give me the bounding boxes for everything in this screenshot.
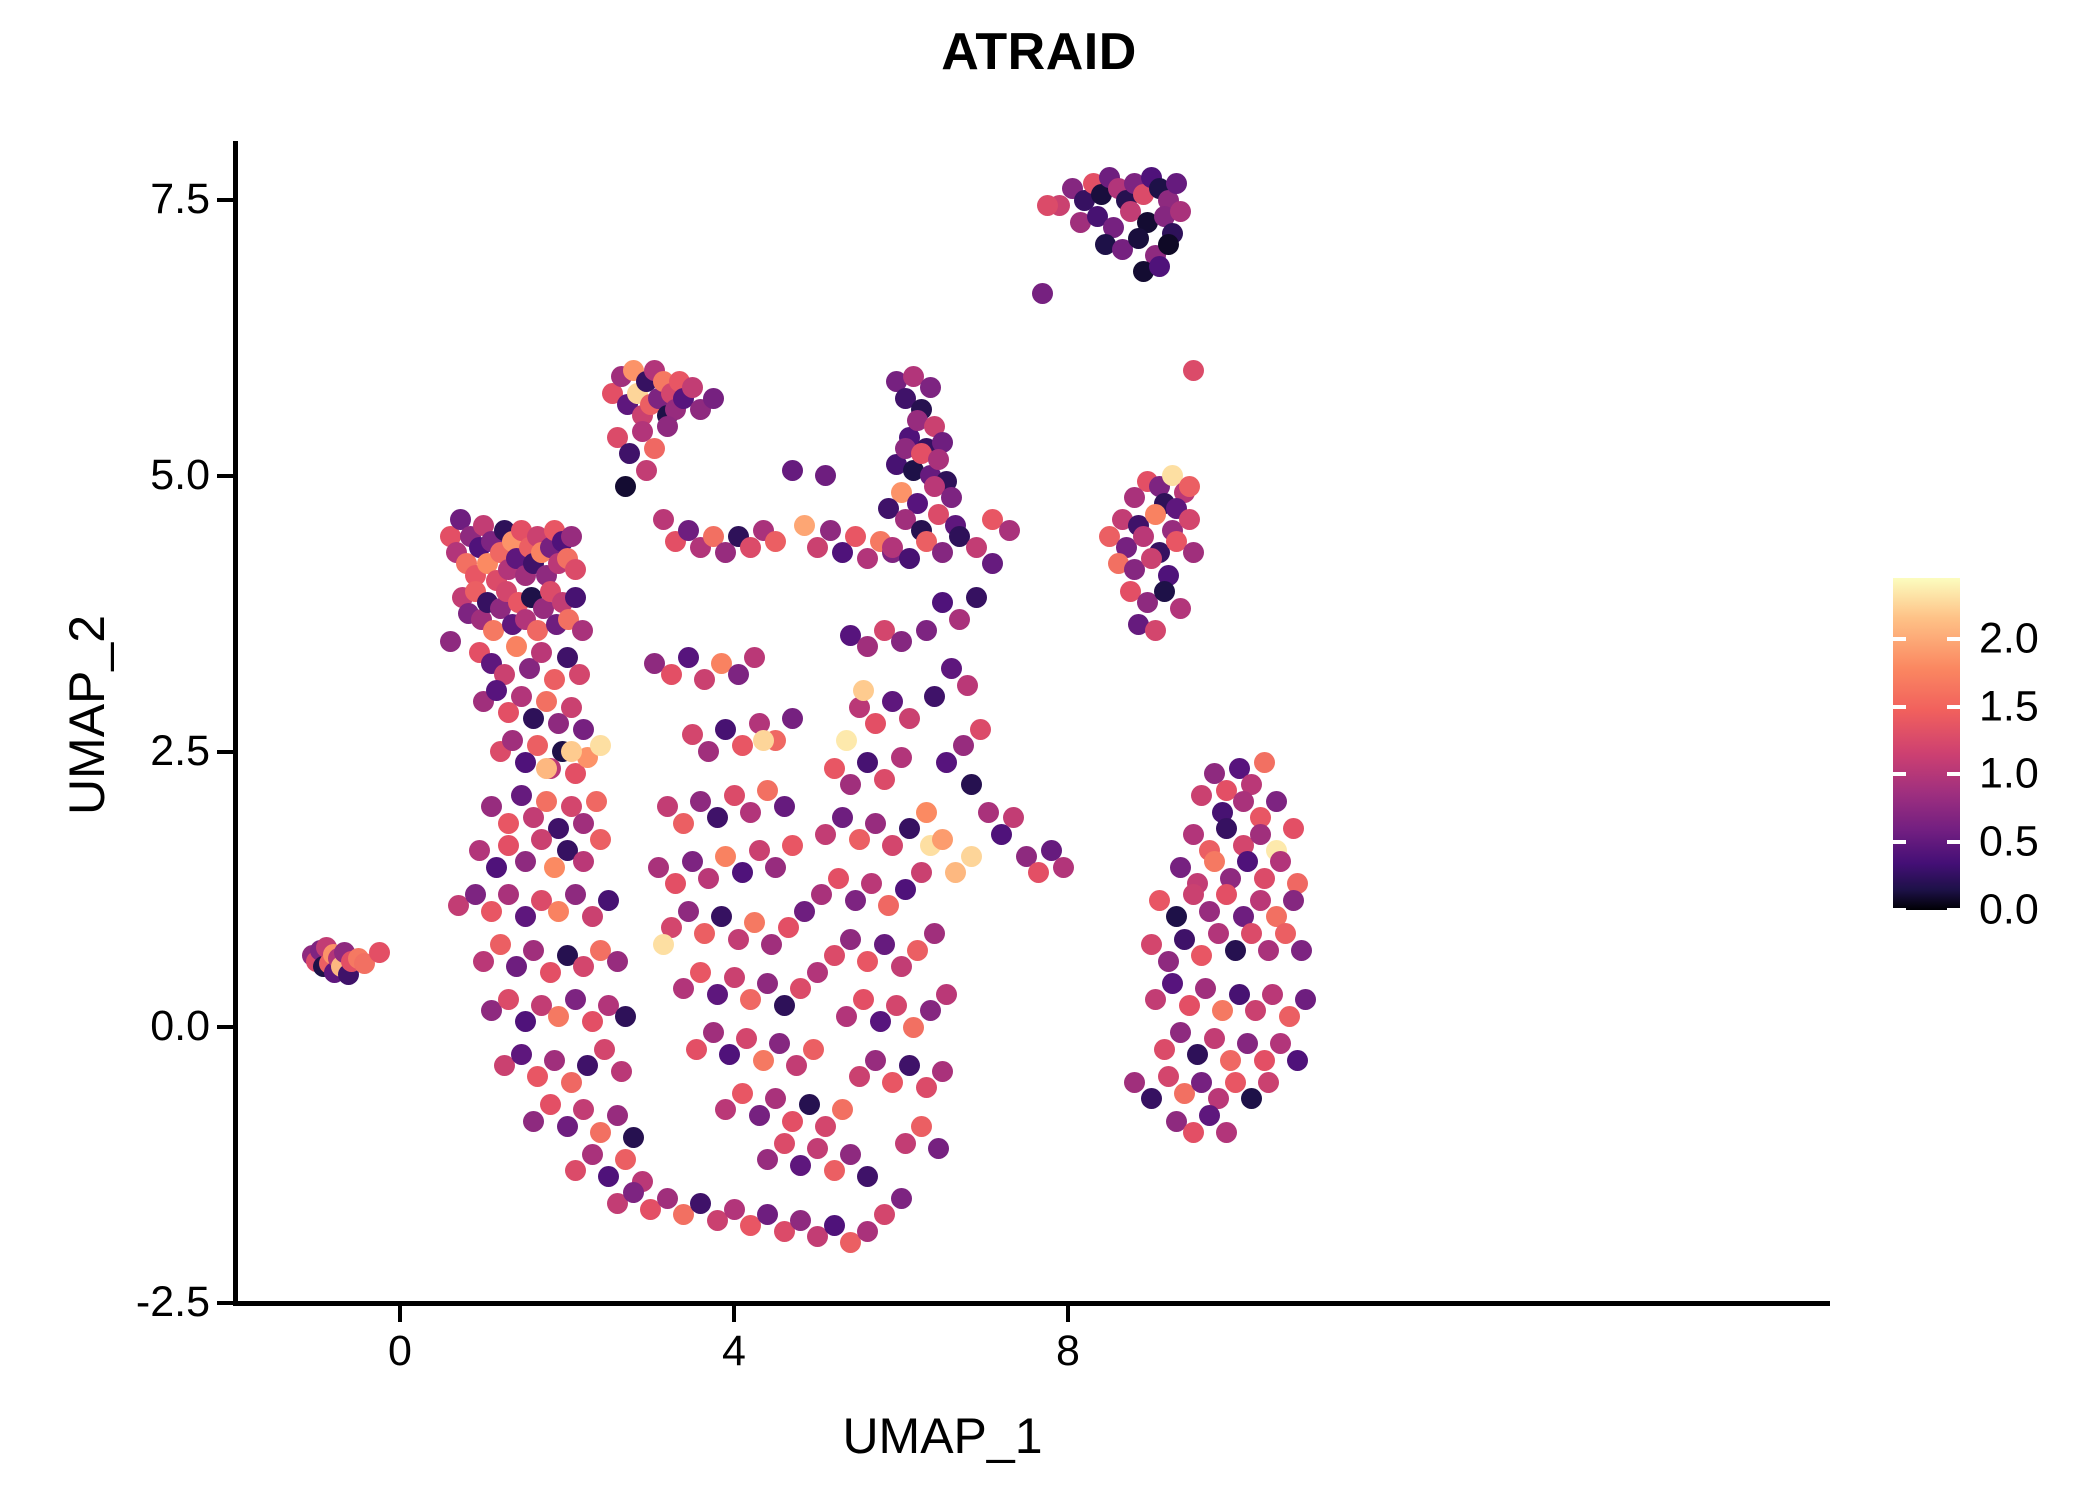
data-point (694, 669, 715, 690)
data-point (1133, 526, 1154, 547)
data-point (1158, 234, 1179, 255)
data-point (690, 1193, 711, 1214)
data-point (1258, 1072, 1279, 1093)
data-point (1225, 1072, 1246, 1093)
data-point (1145, 620, 1166, 641)
data-point (598, 890, 619, 911)
data-point (590, 829, 611, 850)
data-point (1279, 1006, 1300, 1027)
data-point (1170, 1022, 1191, 1043)
data-point (707, 984, 728, 1005)
data-point (615, 1006, 636, 1027)
data-point (936, 752, 957, 773)
data-point (1250, 824, 1271, 845)
data-point (966, 537, 987, 558)
data-point (857, 1166, 878, 1187)
colorbar-tick-mark (1893, 705, 1906, 709)
data-point (928, 1138, 949, 1159)
data-point (1295, 989, 1316, 1010)
x-tick-label: 8 (1056, 1330, 1080, 1373)
y-tick-mark (217, 750, 233, 754)
data-point (836, 730, 857, 751)
data-point (590, 735, 611, 756)
data-point (490, 934, 511, 955)
data-point (1170, 201, 1191, 222)
colorbar-tick-mark (1893, 637, 1906, 641)
data-point (506, 956, 527, 977)
colorbar-tick-label: 2.0 (1979, 617, 2039, 660)
data-point (828, 868, 849, 889)
data-point (1166, 906, 1187, 927)
data-point (815, 465, 836, 486)
data-point (820, 520, 841, 541)
data-point (1199, 1105, 1220, 1126)
data-point (653, 934, 674, 955)
data-point (565, 559, 586, 580)
data-point (1032, 283, 1053, 304)
data-point (849, 829, 870, 850)
data-point (899, 818, 920, 839)
data-point (536, 758, 557, 779)
data-point (874, 769, 895, 790)
data-point (857, 548, 878, 569)
data-point (1158, 1066, 1179, 1087)
data-point (1191, 785, 1212, 806)
data-point (849, 1066, 870, 1087)
data-point (1208, 923, 1229, 944)
data-point (1162, 973, 1183, 994)
data-point (753, 1050, 774, 1071)
data-point (540, 962, 561, 983)
data-point (644, 438, 665, 459)
data-point (1166, 173, 1187, 194)
data-point (891, 631, 912, 652)
data-point (486, 680, 507, 701)
data-point (707, 807, 728, 828)
data-point (932, 829, 953, 850)
data-point (807, 537, 828, 558)
data-point (1233, 791, 1254, 812)
data-point (1216, 1122, 1237, 1143)
data-point (1141, 548, 1162, 569)
data-point (824, 758, 845, 779)
colorbar-tick-mark (1947, 772, 1960, 776)
data-point (886, 995, 907, 1016)
data-point (572, 620, 593, 641)
data-point (515, 851, 536, 872)
data-point (895, 879, 916, 900)
y-axis-line (233, 141, 238, 1306)
data-point (782, 708, 803, 729)
x-axis-label: UMAP_1 (0, 1411, 2100, 1461)
data-point (966, 587, 987, 608)
data-point (1037, 195, 1058, 216)
data-point (1220, 1050, 1241, 1071)
data-point (961, 846, 982, 867)
data-point (1287, 1050, 1308, 1071)
data-point (1145, 504, 1166, 525)
data-point (932, 1061, 953, 1082)
data-point (865, 713, 886, 734)
data-point (1241, 1088, 1262, 1109)
data-point (853, 680, 874, 701)
data-point (607, 1105, 628, 1126)
data-point (1187, 1044, 1208, 1065)
data-point (657, 416, 678, 437)
data-point (673, 978, 694, 999)
data-point (502, 730, 523, 751)
data-point (506, 636, 527, 657)
data-point (1258, 940, 1279, 961)
data-point (369, 942, 390, 963)
data-point (916, 620, 937, 641)
data-point (623, 1127, 644, 1148)
data-point (882, 835, 903, 856)
data-point (473, 951, 494, 972)
data-point (690, 962, 711, 983)
data-point (465, 884, 486, 905)
data-point (845, 526, 866, 547)
y-tick-label: 2.5 (150, 730, 210, 773)
data-point (1266, 791, 1287, 812)
data-point (1270, 1033, 1291, 1054)
data-point (561, 741, 582, 762)
data-point (1158, 951, 1179, 972)
data-point (790, 1155, 811, 1176)
data-point (736, 1028, 757, 1049)
data-point (774, 796, 795, 817)
data-point (749, 1105, 770, 1126)
data-point (765, 857, 786, 878)
data-point (824, 1160, 845, 1181)
data-point (531, 829, 552, 850)
data-point (440, 631, 461, 652)
data-point (774, 995, 795, 1016)
data-point (861, 873, 882, 894)
colorbar-tick-label: 0.0 (1979, 889, 2039, 932)
data-point (698, 741, 719, 762)
data-point (527, 1066, 548, 1087)
data-point (486, 857, 507, 878)
y-tick-mark (217, 1301, 233, 1305)
scatter-plot-figure: ATRAID -2.50.02.55.07.5 048 UMAP_1 UMAP_… (0, 0, 2100, 1500)
data-point (653, 509, 674, 530)
data-point (978, 802, 999, 823)
data-point (1183, 360, 1204, 381)
data-point (824, 945, 845, 966)
data-point (527, 735, 548, 756)
data-point (769, 1033, 790, 1054)
data-point (1141, 1088, 1162, 1109)
data-point (970, 719, 991, 740)
data-point (882, 691, 903, 712)
data-point (765, 531, 786, 552)
data-point (911, 1116, 932, 1137)
data-point (1283, 890, 1304, 911)
data-point (840, 929, 861, 950)
data-point (1199, 901, 1220, 922)
data-point (573, 813, 594, 834)
data-point (569, 664, 590, 685)
data-point (694, 923, 715, 944)
data-point (673, 813, 694, 834)
data-point (891, 956, 912, 977)
data-point (515, 1011, 536, 1032)
data-point (636, 460, 657, 481)
data-point (1183, 542, 1204, 563)
data-point (911, 862, 932, 883)
data-point (1245, 1000, 1266, 1021)
data-point (686, 1039, 707, 1060)
data-point (932, 592, 953, 613)
colorbar-tick-label: 0.5 (1979, 821, 2039, 864)
data-point (573, 1099, 594, 1120)
y-tick-label: 5.0 (150, 454, 210, 497)
data-point (757, 780, 778, 801)
x-tick-mark (398, 1306, 402, 1322)
data-point (577, 1055, 598, 1076)
data-point (815, 1116, 836, 1137)
data-point (573, 719, 594, 740)
data-point (1237, 1033, 1258, 1054)
data-point (498, 813, 519, 834)
data-point (757, 973, 778, 994)
data-point (1028, 862, 1049, 883)
data-point (778, 917, 799, 938)
x-tick-label: 0 (388, 1330, 412, 1373)
data-point (511, 785, 532, 806)
data-point (665, 873, 686, 894)
data-point (1254, 752, 1275, 773)
data-point (1204, 1028, 1225, 1049)
data-point (582, 1144, 603, 1165)
data-point (565, 1160, 586, 1181)
data-point (619, 443, 640, 464)
data-point (732, 1083, 753, 1104)
colorbar-tick-mark (1893, 908, 1906, 912)
data-point (957, 675, 978, 696)
data-point (498, 989, 519, 1010)
data-point (832, 1099, 853, 1120)
data-point (774, 1133, 795, 1154)
data-point (1241, 923, 1262, 944)
data-point (724, 1199, 745, 1220)
data-point (690, 791, 711, 812)
data-point (807, 1138, 828, 1159)
data-point (899, 708, 920, 729)
data-point (1149, 256, 1170, 277)
data-point (782, 1111, 803, 1132)
data-point (1225, 940, 1246, 961)
data-point (1262, 984, 1283, 1005)
data-point (1183, 824, 1204, 845)
data-point (749, 840, 770, 861)
data-point (945, 862, 966, 883)
data-point (1128, 228, 1149, 249)
data-point (561, 526, 582, 547)
data-point (803, 1039, 824, 1060)
data-point (744, 912, 765, 933)
y-tick-mark (217, 198, 233, 202)
data-point (531, 642, 552, 663)
data-point (561, 1072, 582, 1093)
data-point (657, 796, 678, 817)
data-point (615, 476, 636, 497)
y-tick-label: 0.0 (150, 1005, 210, 1048)
y-tick-mark (217, 1025, 233, 1029)
data-point (799, 1094, 820, 1115)
data-point (711, 906, 732, 927)
data-point (924, 686, 945, 707)
data-point (903, 1017, 924, 1038)
data-point (899, 1055, 920, 1076)
data-point (1183, 1122, 1204, 1143)
data-point (698, 868, 719, 889)
data-point (527, 620, 548, 641)
data-point (1195, 978, 1216, 999)
data-point (515, 906, 536, 927)
data-point (899, 548, 920, 569)
data-point (865, 1050, 886, 1071)
y-tick-label: 7.5 (150, 178, 210, 221)
data-point (874, 1204, 895, 1225)
data-point (1170, 598, 1191, 619)
data-point (598, 1166, 619, 1187)
data-point (870, 1011, 891, 1032)
data-point (715, 719, 736, 740)
data-point (782, 835, 803, 856)
colorbar-tick-mark (1947, 840, 1960, 844)
data-point (1141, 934, 1162, 955)
data-point (586, 791, 607, 812)
data-point (865, 813, 886, 834)
data-point (840, 1144, 861, 1165)
data-point (753, 730, 774, 751)
data-point (1154, 581, 1175, 602)
data-point (648, 857, 669, 878)
data-point (794, 515, 815, 536)
data-point (907, 940, 928, 961)
data-point (481, 901, 502, 922)
data-point (548, 1006, 569, 1027)
data-point (732, 735, 753, 756)
data-point (853, 989, 874, 1010)
data-point (1179, 476, 1200, 497)
data-point (999, 520, 1020, 541)
data-point (932, 542, 953, 563)
x-tick-mark (1066, 1306, 1070, 1322)
data-point (786, 1055, 807, 1076)
data-point (523, 1111, 544, 1132)
data-point (740, 989, 761, 1010)
colorbar-gradient (1893, 578, 1960, 910)
data-point (703, 388, 724, 409)
data-point (744, 647, 765, 668)
data-point (1216, 818, 1237, 839)
data-point (1229, 984, 1250, 1005)
data-point (1174, 929, 1195, 950)
data-point (916, 1077, 937, 1098)
data-point (715, 1099, 736, 1120)
data-point (1291, 940, 1312, 961)
colorbar-tick-mark (1893, 772, 1906, 776)
data-point (511, 686, 532, 707)
y-tick-label: -2.5 (136, 1281, 210, 1324)
data-point (565, 884, 586, 905)
data-point (891, 1188, 912, 1209)
data-point (961, 774, 982, 795)
colorbar-tick-mark (1893, 840, 1906, 844)
data-point (594, 1039, 615, 1060)
data-point (544, 857, 565, 878)
data-point (1254, 868, 1275, 889)
data-point (941, 658, 962, 679)
data-point (582, 906, 603, 927)
data-point (757, 1204, 778, 1225)
data-point (836, 1006, 857, 1027)
data-point (740, 537, 761, 558)
data-point (565, 587, 586, 608)
data-point (857, 752, 878, 773)
data-point (1183, 884, 1204, 905)
data-point (1154, 1039, 1175, 1060)
data-point (523, 708, 544, 729)
data-point (469, 840, 490, 861)
data-point (790, 1210, 811, 1231)
data-point (703, 1022, 724, 1043)
data-point (1145, 989, 1166, 1010)
data-point (928, 449, 949, 470)
data-point (1124, 1072, 1145, 1093)
data-point (724, 785, 745, 806)
data-point (483, 620, 504, 641)
data-point (765, 1088, 786, 1109)
data-point (481, 796, 502, 817)
data-point (1179, 995, 1200, 1016)
data-point (811, 884, 832, 905)
data-point (1053, 857, 1074, 878)
data-point (924, 923, 945, 944)
x-tick-mark (732, 1306, 736, 1322)
data-point (561, 697, 582, 718)
data-point (1191, 945, 1212, 966)
colorbar-tick-label: 1.5 (1979, 685, 2039, 728)
data-point (920, 377, 941, 398)
data-point (573, 956, 594, 977)
data-point (857, 951, 878, 972)
data-point (611, 1061, 632, 1082)
x-axis-line (233, 1301, 1830, 1306)
data-point (1003, 807, 1024, 828)
data-point (590, 1122, 611, 1143)
data-point (1283, 818, 1304, 839)
data-point (882, 1072, 903, 1093)
data-point (891, 747, 912, 768)
data-point (573, 851, 594, 872)
data-point (807, 962, 828, 983)
data-point (740, 802, 761, 823)
colorbar-tick-mark (1947, 908, 1960, 912)
data-point (728, 929, 749, 950)
y-axis-label: UMAP_2 (62, 315, 112, 1115)
data-point (761, 934, 782, 955)
colorbar-tick-mark (1947, 637, 1960, 641)
data-point (728, 664, 749, 685)
colorbar-tick-mark (1947, 705, 1960, 709)
data-point (790, 978, 811, 999)
data-point (1124, 487, 1145, 508)
data-point (1275, 923, 1296, 944)
